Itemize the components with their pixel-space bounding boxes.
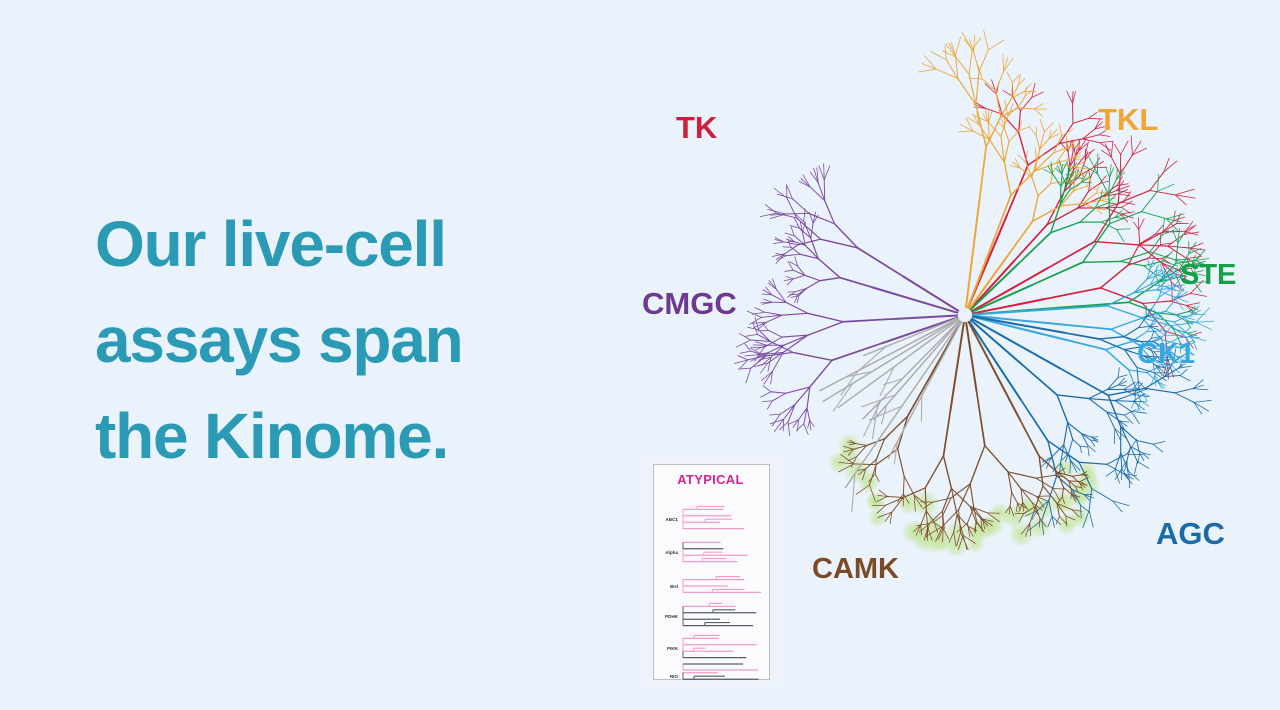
kinome-group-label-agc: AGC	[1156, 516, 1225, 552]
kinome-group-label-ck1: CK1	[1137, 338, 1195, 371]
kinome-group-label-cmgc: CMGC	[642, 286, 737, 322]
atypical-family-label: Alpha	[665, 550, 678, 555]
kinome-group-label-ste: STE	[1180, 259, 1236, 292]
atypical-inset-panel: ABC1AlphaBrdPDHKPIKKRIO ATYPICAL	[641, 456, 780, 687]
atypical-dendrogram: ABC1AlphaBrdPDHKPIKKRIO	[653, 464, 770, 680]
atypical-family-label: RIO	[670, 674, 679, 679]
kinome-group-label-tk: TK	[676, 110, 717, 146]
atypical-title: ATYPICAL	[641, 472, 780, 487]
kinome-group-label-tkl: TKL	[1098, 102, 1158, 138]
atypical-family-label: PIKK	[667, 646, 679, 651]
atypical-family-label: ABC1	[665, 517, 678, 522]
page-title: Our live-cell assays span the Kinome.	[95, 196, 565, 484]
slide-canvas: Our live-cell assays span the Kinome. TK…	[0, 0, 1280, 710]
kinome-group-label-camk: CAMK	[812, 553, 899, 586]
atypical-family-label: Brd	[670, 584, 678, 589]
atypical-family-label: PDHK	[665, 614, 679, 619]
